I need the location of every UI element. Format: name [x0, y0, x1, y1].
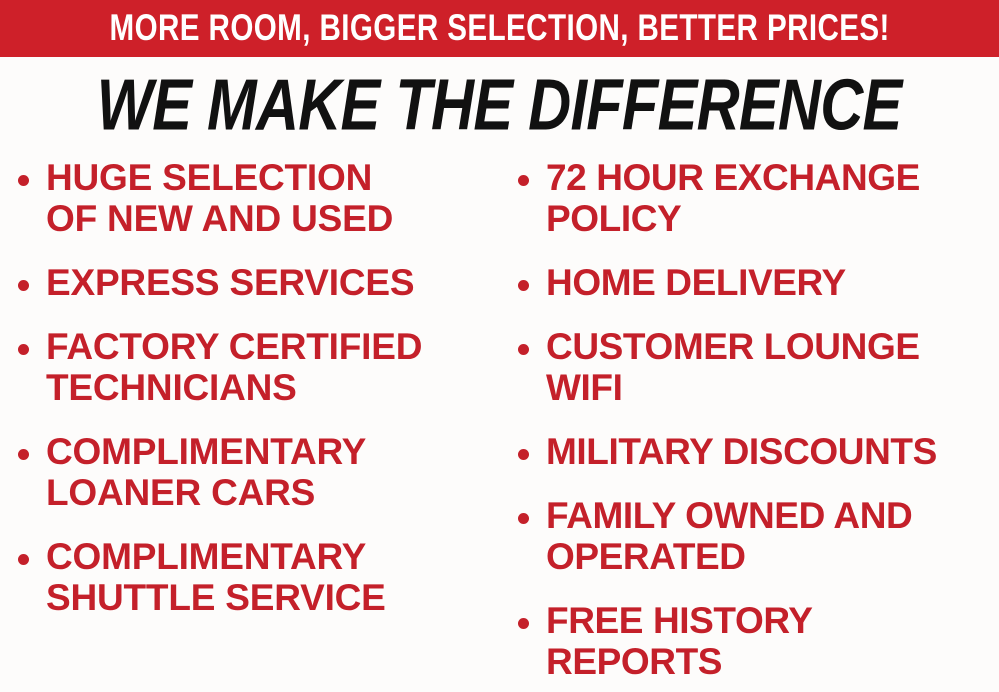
- bullet-dot-icon: [518, 344, 529, 355]
- list-item: CUSTOMER LOUNGE WIFI: [518, 326, 999, 408]
- features-column-left: HUGE SELECTION OF NEW AND USED EXPRESS S…: [18, 157, 496, 641]
- list-item: COMPLIMENTARY SHUTTLE SERVICE: [18, 536, 496, 618]
- list-item: MILITARY DISCOUNTS: [518, 431, 999, 472]
- promotional-poster: MORE ROOM, BIGGER SELECTION, BETTER PRIC…: [0, 0, 999, 692]
- list-item: FREE HISTORY REPORTS: [518, 600, 999, 682]
- list-item-label: HUGE SELECTION OF NEW AND USED: [46, 157, 393, 239]
- bullet-dot-icon: [518, 175, 529, 186]
- features-columns: HUGE SELECTION OF NEW AND USED EXPRESS S…: [0, 157, 999, 692]
- bullet-dot-icon: [518, 449, 529, 460]
- list-item: EXPRESS SERVICES: [18, 262, 496, 303]
- list-item-label: EXPRESS SERVICES: [46, 262, 414, 303]
- list-item-label: HOME DELIVERY: [546, 262, 846, 303]
- list-item: HOME DELIVERY: [518, 262, 999, 303]
- bullet-dot-icon: [518, 618, 529, 629]
- list-item-label: FAMILY OWNED AND OPERATED: [546, 495, 912, 577]
- headline-container: WE MAKE THE DIFFERENCE: [0, 68, 999, 142]
- list-item: FAMILY OWNED AND OPERATED: [518, 495, 999, 577]
- bullet-dot-icon: [518, 513, 529, 524]
- banner-headline-text: MORE ROOM, BIGGER SELECTION, BETTER PRIC…: [109, 8, 889, 48]
- list-item-label: COMPLIMENTARY LOANER CARS: [46, 431, 366, 513]
- list-item-label: MILITARY DISCOUNTS: [546, 431, 937, 472]
- features-column-right: 72 HOUR EXCHANGE POLICY HOME DELIVERY CU…: [518, 157, 999, 692]
- bullet-dot-icon: [18, 175, 29, 186]
- list-item-label: CUSTOMER LOUNGE WIFI: [546, 326, 920, 408]
- top-banner: MORE ROOM, BIGGER SELECTION, BETTER PRIC…: [0, 0, 999, 57]
- bullet-dot-icon: [18, 344, 29, 355]
- list-item-label: FACTORY CERTIFIED TECHNICIANS: [46, 326, 422, 408]
- bullet-dot-icon: [518, 280, 529, 291]
- list-item: 72 HOUR EXCHANGE POLICY: [518, 157, 999, 239]
- page-title: WE MAKE THE DIFFERENCE: [97, 72, 902, 139]
- list-item: COMPLIMENTARY LOANER CARS: [18, 431, 496, 513]
- list-item: HUGE SELECTION OF NEW AND USED: [18, 157, 496, 239]
- list-item: FACTORY CERTIFIED TECHNICIANS: [18, 326, 496, 408]
- list-item-label: COMPLIMENTARY SHUTTLE SERVICE: [46, 536, 386, 618]
- bullet-dot-icon: [18, 280, 29, 291]
- list-item-label: 72 HOUR EXCHANGE POLICY: [546, 157, 920, 239]
- bullet-dot-icon: [18, 449, 29, 460]
- bullet-dot-icon: [18, 554, 29, 565]
- list-item-label: FREE HISTORY REPORTS: [546, 600, 813, 682]
